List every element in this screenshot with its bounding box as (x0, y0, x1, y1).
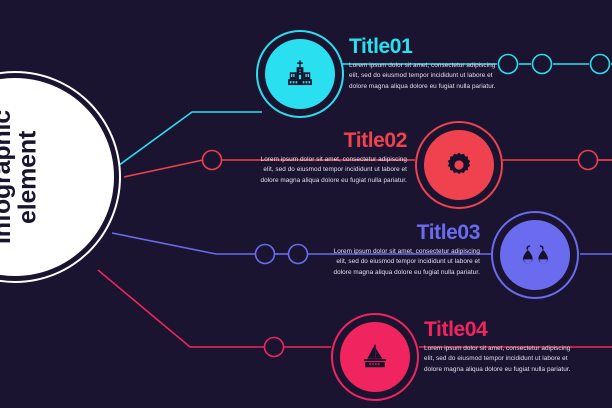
text-block-4: Title04 Lorem ipsum dolor sit amet, cons… (424, 319, 574, 375)
connector-dot (203, 151, 222, 170)
item-body-4: Lorem ipsum dolor sit amet, consectetur … (424, 344, 574, 375)
item-body-3: Lorem ipsum dolor sit amet, consectetur … (330, 247, 480, 278)
connector-dot (579, 151, 598, 170)
connector-dot (533, 55, 552, 74)
text-block-3: Title03 Lorem ipsum dolor sit amet, cons… (330, 222, 480, 278)
item-title-1: Title01 (349, 36, 499, 57)
item-title-3: Title03 (330, 222, 480, 243)
item-title-4: Title04 (424, 319, 574, 340)
connector-dot (256, 245, 275, 264)
earrings-icon (518, 238, 552, 272)
item-title-2: Title02 (257, 130, 407, 151)
text-block-2: Title02 Lorem ipsum dolor sit amet, cons… (257, 130, 407, 186)
connector-dot (591, 55, 610, 74)
node-circle-4[interactable] (331, 313, 419, 401)
sailboat-icon (358, 340, 392, 374)
item-body-1: Lorem ipsum dolor sit amet, consectetur … (349, 61, 499, 92)
connector-dot (499, 55, 518, 74)
connector-dot (289, 245, 308, 264)
node-circle-3[interactable] (491, 211, 579, 299)
text-block-1: Title01 Lorem ipsum dolor sit amet, cons… (349, 36, 499, 92)
infographic-canvas: Infographic element (0, 0, 612, 408)
node-circle-2[interactable] (415, 121, 503, 209)
connector-dot (265, 338, 284, 357)
church-building-icon (283, 57, 317, 91)
item-body-2: Lorem ipsum dolor sit amet, consectetur … (257, 155, 407, 186)
node-circle-1[interactable] (256, 30, 344, 118)
gear-icon (442, 148, 476, 182)
